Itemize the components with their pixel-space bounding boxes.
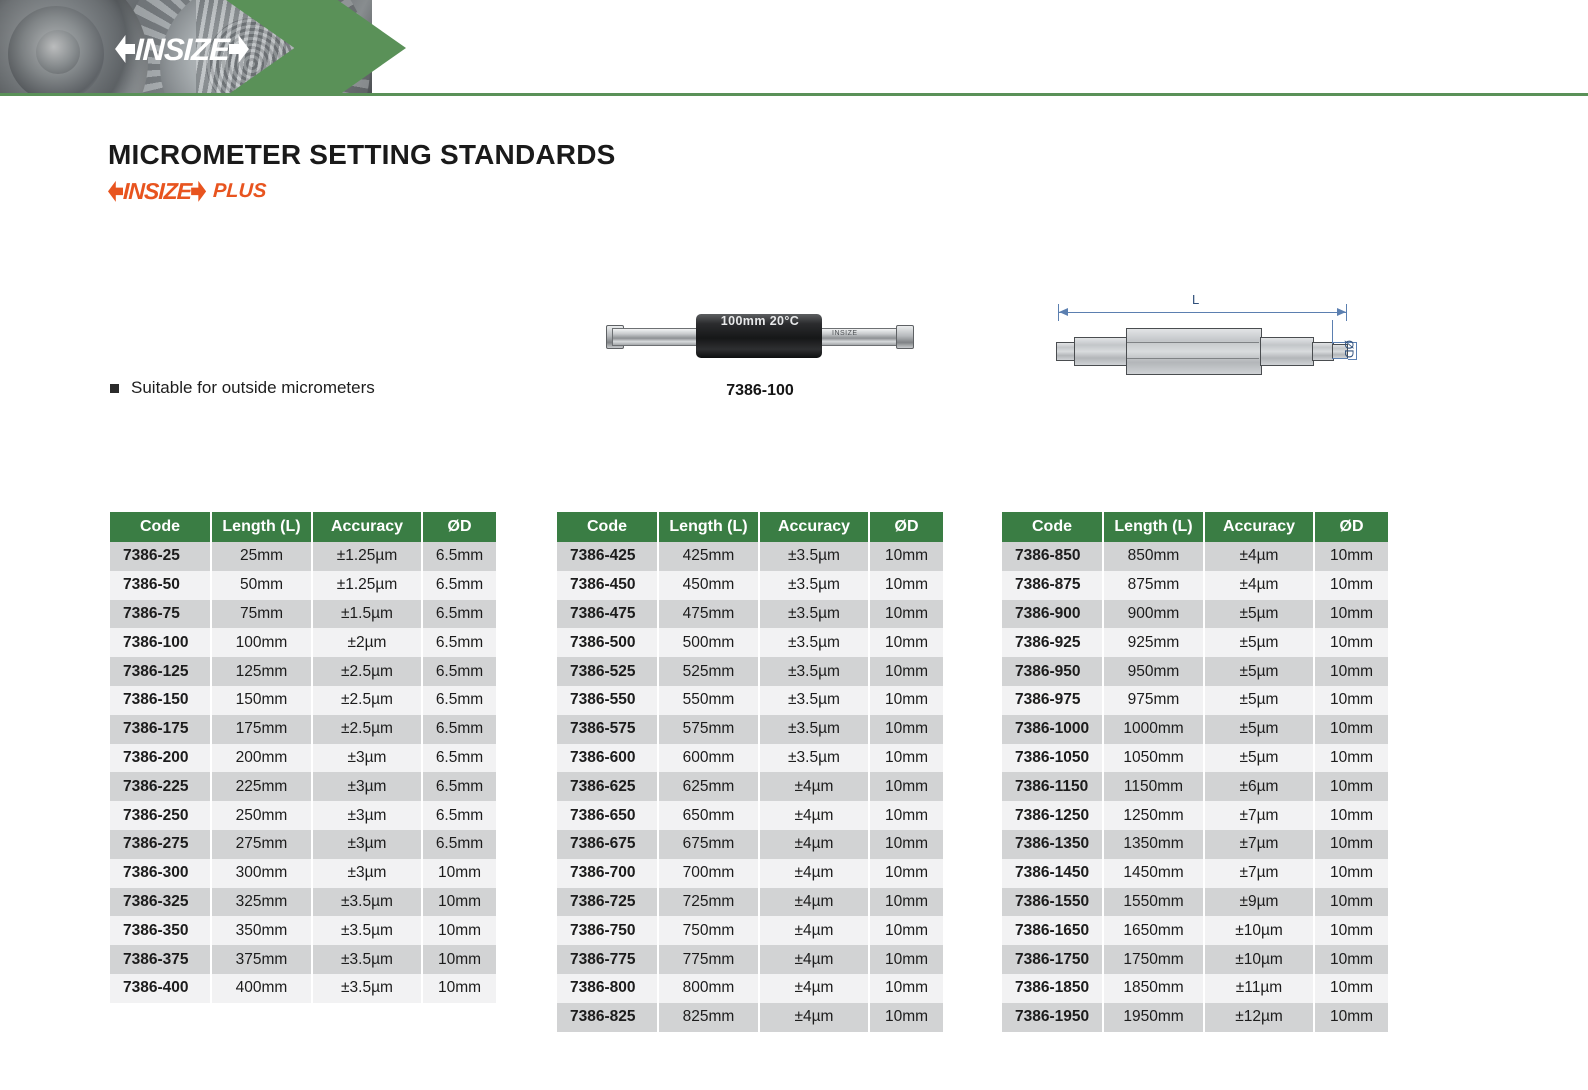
cell-length: 950mm <box>1103 657 1204 686</box>
cell-accuracy: ±4µm <box>759 945 869 974</box>
table-row: 7386-125125mm±2.5µm6.5mm <box>110 657 496 686</box>
insize-plus-logo: INSIZE PLUS <box>108 178 616 204</box>
cell-diameter: 10mm <box>1314 888 1388 917</box>
cell-diameter: 10mm <box>869 830 943 859</box>
table-row: 7386-975975mm±5µm10mm <box>1002 686 1388 715</box>
cell-code: 7386-100 <box>110 628 211 657</box>
cell-accuracy: ±4µm <box>759 830 869 859</box>
arrow-right-icon <box>229 35 249 63</box>
cell-diameter: 10mm <box>1314 772 1388 801</box>
cell-accuracy: ±5µm <box>1204 657 1314 686</box>
cell-code: 7386-650 <box>557 801 658 830</box>
cell-accuracy: ±2µm <box>312 628 422 657</box>
column-header-accuracy: Accuracy <box>759 512 869 542</box>
arrow-left-icon <box>115 35 135 63</box>
cell-length: 475mm <box>658 600 759 629</box>
cell-diameter: 10mm <box>1314 1003 1388 1032</box>
table-row: 7386-650650mm±4µm10mm <box>557 801 943 830</box>
cell-diameter: 10mm <box>869 686 943 715</box>
cell-code: 7386-675 <box>557 830 658 859</box>
cell-accuracy: ±2.5µm <box>312 686 422 715</box>
cell-code: 7386-1150 <box>1002 772 1103 801</box>
cell-diameter: 10mm <box>869 1003 943 1032</box>
cell-accuracy: ±6µm <box>1204 772 1314 801</box>
diameter-dimension-label: ØD <box>1342 340 1356 358</box>
column-header-code: Code <box>557 512 658 542</box>
cell-length: 1250mm <box>1103 801 1204 830</box>
cell-accuracy: ±11µm <box>1204 974 1314 1003</box>
cell-accuracy: ±3.5µm <box>759 571 869 600</box>
cell-code: 7386-1250 <box>1002 801 1103 830</box>
table-row: 7386-500500mm±3.5µm10mm <box>557 628 943 657</box>
table-row: 7386-575575mm±3.5µm10mm <box>557 715 943 744</box>
cell-diameter: 6.5mm <box>422 628 496 657</box>
product-shaft-left <box>612 328 704 346</box>
cell-accuracy: ±5µm <box>1204 744 1314 773</box>
cell-code: 7386-600 <box>557 744 658 773</box>
cell-diameter: 10mm <box>422 859 496 888</box>
table-row: 7386-18501850mm±11µm10mm <box>1002 974 1388 1003</box>
cell-diameter: 6.5mm <box>422 744 496 773</box>
table-row: 7386-225225mm±3µm6.5mm <box>110 772 496 801</box>
table-row: 7386-600600mm±3.5µm10mm <box>557 744 943 773</box>
cell-accuracy: ±1.25µm <box>312 542 422 571</box>
table-row: 7386-525525mm±3.5µm10mm <box>557 657 943 686</box>
column-header-diameter: ØD <box>869 512 943 542</box>
cell-length: 400mm <box>211 974 312 1003</box>
cell-code: 7386-1850 <box>1002 974 1103 1003</box>
table-row: 7386-375375mm±3.5µm10mm <box>110 945 496 974</box>
product-end-face-right <box>896 325 914 349</box>
cell-accuracy: ±5µm <box>1204 600 1314 629</box>
table-row: 7386-475475mm±3.5µm10mm <box>557 600 943 629</box>
table-row: 7386-350350mm±3.5µm10mm <box>110 916 496 945</box>
cell-length: 625mm <box>658 772 759 801</box>
cell-code: 7386-925 <box>1002 628 1103 657</box>
cell-diameter: 10mm <box>1314 945 1388 974</box>
cell-diameter: 10mm <box>869 600 943 629</box>
drawing-segment-shaft-left <box>1074 337 1128 366</box>
table-row: 7386-19501950mm±12µm10mm <box>1002 1003 1388 1032</box>
table-body: 7386-850850mm±4µm10mm7386-875875mm±4µm10… <box>1002 542 1388 1032</box>
header-green-rule <box>0 93 1588 96</box>
bullet-square-icon <box>110 384 119 393</box>
cell-accuracy: ±2.5µm <box>312 715 422 744</box>
cell-accuracy: ±3.5µm <box>759 744 869 773</box>
cell-accuracy: ±4µm <box>759 974 869 1003</box>
cell-length: 1150mm <box>1103 772 1204 801</box>
table-header-row: Code Length (L) Accuracy ØD <box>110 512 496 542</box>
cell-code: 7386-1550 <box>1002 888 1103 917</box>
cell-accuracy: ±3.5µm <box>312 888 422 917</box>
cell-diameter: 10mm <box>1314 657 1388 686</box>
arrow-left-icon <box>108 181 123 202</box>
cell-code: 7386-1050 <box>1002 744 1103 773</box>
table-row: 7386-400400mm±3.5µm10mm <box>110 974 496 1003</box>
column-header-diameter: ØD <box>1314 512 1388 542</box>
cell-length: 1000mm <box>1103 715 1204 744</box>
plus-word-text: PLUS <box>213 180 268 203</box>
cell-diameter: 10mm <box>422 916 496 945</box>
cell-length: 1050mm <box>1103 744 1204 773</box>
cell-length: 1950mm <box>1103 1003 1204 1032</box>
cell-code: 7386-900 <box>1002 600 1103 629</box>
cell-code: 7386-125 <box>110 657 211 686</box>
arrow-right-icon <box>191 181 206 202</box>
cell-length: 50mm <box>211 571 312 600</box>
cell-diameter: 10mm <box>422 945 496 974</box>
cell-accuracy: ±3.5µm <box>312 945 422 974</box>
cell-length: 850mm <box>1103 542 1204 571</box>
table-row: 7386-175175mm±2.5µm6.5mm <box>110 715 496 744</box>
table-row: 7386-12501250mm±7µm10mm <box>1002 801 1388 830</box>
table-row: 7386-800800mm±4µm10mm <box>557 974 943 1003</box>
cell-diameter: 6.5mm <box>422 801 496 830</box>
cell-accuracy: ±1.25µm <box>312 571 422 600</box>
drawing-edge-line-top <box>1127 342 1259 343</box>
table-row: 7386-775775mm±4µm10mm <box>557 945 943 974</box>
cell-code: 7386-575 <box>557 715 658 744</box>
cell-diameter: 6.5mm <box>422 715 496 744</box>
cell-length: 325mm <box>211 888 312 917</box>
table-row: 7386-100100mm±2µm6.5mm <box>110 628 496 657</box>
cell-code: 7386-350 <box>110 916 211 945</box>
dimension-arrow-left-icon <box>1059 308 1068 316</box>
cell-diameter: 10mm <box>1314 744 1388 773</box>
table-row: 7386-625625mm±4µm10mm <box>557 772 943 801</box>
table-row: 7386-950950mm±5µm10mm <box>1002 657 1388 686</box>
cell-length: 1850mm <box>1103 974 1204 1003</box>
spec-table-3: Code Length (L) Accuracy ØD 7386-850850m… <box>1002 512 1388 1032</box>
cell-accuracy: ±4µm <box>759 859 869 888</box>
table-row: 7386-2525mm±1.25µm6.5mm <box>110 542 496 571</box>
column-header-code: Code <box>110 512 211 542</box>
column-header-accuracy: Accuracy <box>312 512 422 542</box>
cell-length: 150mm <box>211 686 312 715</box>
drawing-edge-line-bottom <box>1127 358 1259 359</box>
table-row: 7386-14501450mm±7µm10mm <box>1002 859 1388 888</box>
feature-list-item: Suitable for outside micrometers <box>110 378 375 398</box>
table-body: 7386-2525mm±1.25µm6.5mm7386-5050mm±1.25µ… <box>110 542 496 1003</box>
table-row: 7386-875875mm±4µm10mm <box>1002 571 1388 600</box>
cell-code: 7386-475 <box>557 600 658 629</box>
cell-length: 675mm <box>658 830 759 859</box>
cell-code: 7386-450 <box>557 571 658 600</box>
cell-diameter: 10mm <box>422 888 496 917</box>
page-header: INSIZE <box>0 0 1588 96</box>
length-dimension-line <box>1058 312 1346 313</box>
cell-code: 7386-225 <box>110 772 211 801</box>
title-block: MICROMETER SETTING STANDARDS INSIZE PLUS <box>108 140 616 204</box>
cell-diameter: 10mm <box>869 801 943 830</box>
cell-code: 7386-250 <box>110 801 211 830</box>
cell-accuracy: ±3µm <box>312 801 422 830</box>
cell-accuracy: ±4µm <box>759 1003 869 1032</box>
cell-length: 250mm <box>211 801 312 830</box>
cell-code: 7386-750 <box>557 916 658 945</box>
table-row: 7386-13501350mm±7µm10mm <box>1002 830 1388 859</box>
cell-accuracy: ±3.5µm <box>312 974 422 1003</box>
cell-code: 7386-825 <box>557 1003 658 1032</box>
cell-accuracy: ±4µm <box>759 772 869 801</box>
drawing-segment-neck-right <box>1312 342 1334 361</box>
cell-length: 875mm <box>1103 571 1204 600</box>
cell-diameter: 10mm <box>1314 686 1388 715</box>
cell-length: 825mm <box>658 1003 759 1032</box>
product-figure: 100mm 20°C INSIZE 7386-100 <box>600 300 920 400</box>
cell-code: 7386-525 <box>557 657 658 686</box>
cell-diameter: 10mm <box>869 974 943 1003</box>
cell-accuracy: ±10µm <box>1204 945 1314 974</box>
column-header-diameter: ØD <box>422 512 496 542</box>
cell-diameter: 10mm <box>869 945 943 974</box>
cell-diameter: 10mm <box>1314 600 1388 629</box>
cell-code: 7386-700 <box>557 859 658 888</box>
cell-accuracy: ±3µm <box>312 744 422 773</box>
cell-diameter: 6.5mm <box>422 571 496 600</box>
cell-accuracy: ±4µm <box>759 916 869 945</box>
table-row: 7386-550550mm±3.5µm10mm <box>557 686 943 715</box>
table-row: 7386-325325mm±3.5µm10mm <box>110 888 496 917</box>
cell-length: 500mm <box>658 628 759 657</box>
cell-diameter: 10mm <box>869 571 943 600</box>
cell-accuracy: ±4µm <box>1204 542 1314 571</box>
cell-length: 375mm <box>211 945 312 974</box>
cell-diameter: 6.5mm <box>422 600 496 629</box>
cell-accuracy: ±3.5µm <box>759 686 869 715</box>
cell-code: 7386-850 <box>1002 542 1103 571</box>
table-row: 7386-7575mm±1.5µm6.5mm <box>110 600 496 629</box>
cell-length: 700mm <box>658 859 759 888</box>
cell-diameter: 6.5mm <box>422 772 496 801</box>
table-header-row: Code Length (L) Accuracy ØD <box>557 512 943 542</box>
table-row: 7386-725725mm±4µm10mm <box>557 888 943 917</box>
cell-length: 200mm <box>211 744 312 773</box>
cell-code: 7386-400 <box>110 974 211 1003</box>
cell-code: 7386-625 <box>557 772 658 801</box>
cell-diameter: 10mm <box>869 772 943 801</box>
column-header-length: Length (L) <box>1103 512 1204 542</box>
cell-diameter: 10mm <box>869 916 943 945</box>
cell-length: 425mm <box>658 542 759 571</box>
column-header-code: Code <box>1002 512 1103 542</box>
table-row: 7386-750750mm±4µm10mm <box>557 916 943 945</box>
cell-accuracy: ±10µm <box>1204 916 1314 945</box>
cell-length: 600mm <box>658 744 759 773</box>
table-row: 7386-700700mm±4µm10mm <box>557 859 943 888</box>
table-row: 7386-425425mm±3.5µm10mm <box>557 542 943 571</box>
table-row: 7386-900900mm±5µm10mm <box>1002 600 1388 629</box>
length-dimension-label: L <box>1192 292 1199 307</box>
table-row: 7386-275275mm±3µm6.5mm <box>110 830 496 859</box>
cell-diameter: 10mm <box>869 628 943 657</box>
cell-length: 800mm <box>658 974 759 1003</box>
cell-diameter: 10mm <box>1314 974 1388 1003</box>
cell-code: 7386-775 <box>557 945 658 974</box>
cell-length: 550mm <box>658 686 759 715</box>
cell-code: 7386-150 <box>110 686 211 715</box>
cell-length: 275mm <box>211 830 312 859</box>
cell-accuracy: ±4µm <box>759 801 869 830</box>
cell-diameter: 6.5mm <box>422 686 496 715</box>
cell-code: 7386-25 <box>110 542 211 571</box>
cell-diameter: 6.5mm <box>422 542 496 571</box>
cell-code: 7386-1950 <box>1002 1003 1103 1032</box>
cell-accuracy: ±7µm <box>1204 830 1314 859</box>
product-side-mark-text: INSIZE <box>832 330 858 337</box>
drawing-segment-grip <box>1126 328 1262 375</box>
table-row: 7386-200200mm±3µm6.5mm <box>110 744 496 773</box>
table-row: 7386-10501050mm±5µm10mm <box>1002 744 1388 773</box>
table-body: 7386-425425mm±3.5µm10mm7386-450450mm±3.5… <box>557 542 943 1032</box>
insize-plus-brand-text: INSIZE <box>123 180 192 203</box>
cell-accuracy: ±1.5µm <box>312 600 422 629</box>
cell-length: 100mm <box>211 628 312 657</box>
cell-code: 7386-75 <box>110 600 211 629</box>
drawing-segment-shaft-right <box>1260 337 1314 366</box>
table-row: 7386-850850mm±4µm10mm <box>1002 542 1388 571</box>
cell-length: 775mm <box>658 945 759 974</box>
table-row: 7386-150150mm±2.5µm6.5mm <box>110 686 496 715</box>
table-row: 7386-925925mm±5µm10mm <box>1002 628 1388 657</box>
product-caption: 7386-100 <box>600 382 920 400</box>
cell-length: 225mm <box>211 772 312 801</box>
column-header-length: Length (L) <box>658 512 759 542</box>
technical-drawing: L ØD <box>1040 290 1380 390</box>
product-photo: 100mm 20°C INSIZE <box>600 300 920 370</box>
table-row: 7386-5050mm±1.25µm6.5mm <box>110 571 496 600</box>
cell-accuracy: ±3.5µm <box>759 657 869 686</box>
diameter-extension-line-bottom <box>1332 358 1348 359</box>
table-row: 7386-450450mm±3.5µm10mm <box>557 571 943 600</box>
cell-code: 7386-325 <box>110 888 211 917</box>
cell-length: 900mm <box>1103 600 1204 629</box>
cell-accuracy: ±2.5µm <box>312 657 422 686</box>
page-title: MICROMETER SETTING STANDARDS <box>108 140 616 169</box>
cell-diameter: 10mm <box>869 542 943 571</box>
cell-code: 7386-300 <box>110 859 211 888</box>
cell-accuracy: ±7µm <box>1204 801 1314 830</box>
cell-diameter: 10mm <box>1314 628 1388 657</box>
dimension-arrow-right-icon <box>1337 308 1346 316</box>
cell-length: 525mm <box>658 657 759 686</box>
product-engraving-text: 100mm 20°C <box>600 314 920 328</box>
cell-accuracy: ±3µm <box>312 830 422 859</box>
cell-length: 750mm <box>658 916 759 945</box>
cell-diameter: 10mm <box>869 888 943 917</box>
cell-diameter: 10mm <box>1314 859 1388 888</box>
table-row: 7386-300300mm±3µm10mm <box>110 859 496 888</box>
cell-accuracy: ±9µm <box>1204 888 1314 917</box>
cell-code: 7386-50 <box>110 571 211 600</box>
cell-diameter: 10mm <box>1314 916 1388 945</box>
cell-length: 1750mm <box>1103 945 1204 974</box>
cell-length: 725mm <box>658 888 759 917</box>
table-header-row: Code Length (L) Accuracy ØD <box>1002 512 1388 542</box>
cell-length: 925mm <box>1103 628 1204 657</box>
cell-diameter: 10mm <box>869 744 943 773</box>
cell-accuracy: ±5µm <box>1204 628 1314 657</box>
insize-logo: INSIZE <box>98 28 266 70</box>
insize-logo-text: INSIZE <box>135 34 230 65</box>
cell-diameter: 10mm <box>869 715 943 744</box>
table-row: 7386-11501150mm±6µm10mm <box>1002 772 1388 801</box>
cell-accuracy: ±3.5µm <box>759 542 869 571</box>
cell-length: 1650mm <box>1103 916 1204 945</box>
cell-code: 7386-275 <box>110 830 211 859</box>
diameter-leader-line <box>1332 320 1333 344</box>
cell-accuracy: ±4µm <box>1204 571 1314 600</box>
cell-code: 7386-1350 <box>1002 830 1103 859</box>
cell-length: 450mm <box>658 571 759 600</box>
cell-code: 7386-875 <box>1002 571 1103 600</box>
cell-accuracy: ±4µm <box>759 888 869 917</box>
cell-code: 7386-175 <box>110 715 211 744</box>
cell-code: 7386-375 <box>110 945 211 974</box>
cell-accuracy: ±3.5µm <box>759 600 869 629</box>
cell-length: 1450mm <box>1103 859 1204 888</box>
cell-length: 975mm <box>1103 686 1204 715</box>
dimension-tick-right <box>1346 304 1347 321</box>
cell-length: 575mm <box>658 715 759 744</box>
cell-accuracy: ±5µm <box>1204 686 1314 715</box>
cell-diameter: 10mm <box>869 657 943 686</box>
cell-diameter: 10mm <box>422 974 496 1003</box>
cell-code: 7386-500 <box>557 628 658 657</box>
cell-length: 1350mm <box>1103 830 1204 859</box>
cell-code: 7386-1450 <box>1002 859 1103 888</box>
table-row: 7386-16501650mm±10µm10mm <box>1002 916 1388 945</box>
cell-code: 7386-950 <box>1002 657 1103 686</box>
table-row: 7386-15501550mm±9µm10mm <box>1002 888 1388 917</box>
cell-accuracy: ±12µm <box>1204 1003 1314 1032</box>
cell-code: 7386-800 <box>557 974 658 1003</box>
cell-accuracy: ±3.5µm <box>312 916 422 945</box>
cell-accuracy: ±3µm <box>312 772 422 801</box>
table-row: 7386-250250mm±3µm6.5mm <box>110 801 496 830</box>
cell-accuracy: ±7µm <box>1204 859 1314 888</box>
cell-code: 7386-200 <box>110 744 211 773</box>
cell-code: 7386-550 <box>557 686 658 715</box>
cell-length: 25mm <box>211 542 312 571</box>
feature-text: Suitable for outside micrometers <box>131 378 375 398</box>
cell-length: 75mm <box>211 600 312 629</box>
cell-accuracy: ±5µm <box>1204 715 1314 744</box>
cell-accuracy: ±3.5µm <box>759 628 869 657</box>
cell-diameter: 10mm <box>1314 715 1388 744</box>
cell-code: 7386-425 <box>557 542 658 571</box>
cell-accuracy: ±3µm <box>312 859 422 888</box>
cell-code: 7386-1650 <box>1002 916 1103 945</box>
drawing-segment-tip-left <box>1056 342 1076 361</box>
table-row: 7386-17501750mm±10µm10mm <box>1002 945 1388 974</box>
cell-code: 7386-725 <box>557 888 658 917</box>
cell-length: 300mm <box>211 859 312 888</box>
table-row: 7386-10001000mm±5µm10mm <box>1002 715 1388 744</box>
cell-diameter: 10mm <box>1314 830 1388 859</box>
cell-code: 7386-975 <box>1002 686 1103 715</box>
cell-diameter: 6.5mm <box>422 657 496 686</box>
cell-diameter: 10mm <box>1314 542 1388 571</box>
cell-length: 350mm <box>211 916 312 945</box>
cell-diameter: 10mm <box>869 859 943 888</box>
cell-code: 7386-1000 <box>1002 715 1103 744</box>
table-row: 7386-825825mm±4µm10mm <box>557 1003 943 1032</box>
cell-code: 7386-1750 <box>1002 945 1103 974</box>
cell-length: 125mm <box>211 657 312 686</box>
cell-diameter: 6.5mm <box>422 830 496 859</box>
cell-accuracy: ±3.5µm <box>759 715 869 744</box>
